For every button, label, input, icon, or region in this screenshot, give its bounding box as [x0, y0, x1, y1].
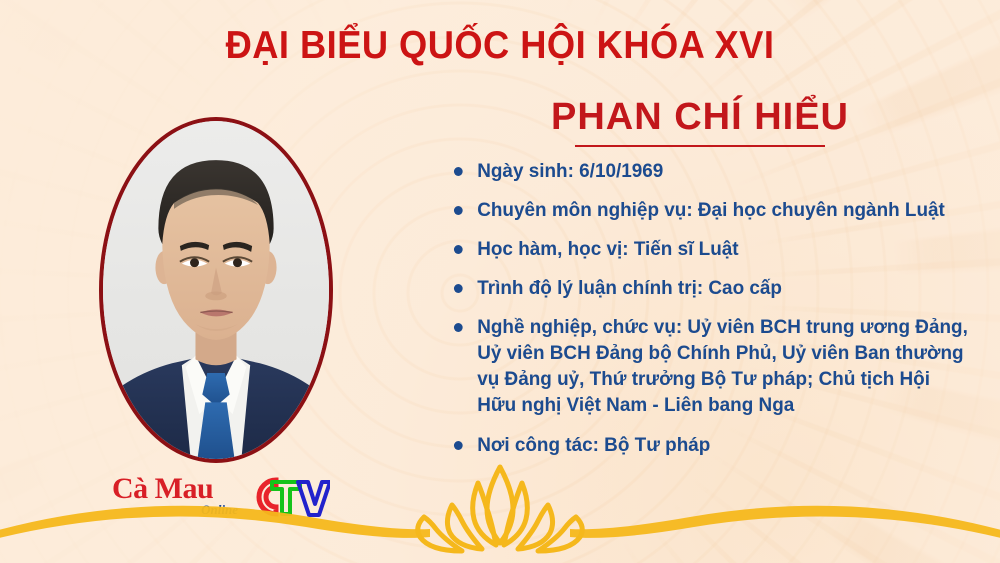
detail-text: Nơi công tác: Bộ Tư pháp	[477, 434, 710, 456]
bullet-dot-icon	[454, 245, 463, 254]
detail-text: Trình độ lý luận chính trị: Cao cấp	[477, 277, 782, 299]
bullet-dot-icon	[454, 323, 463, 332]
deputy-name: PHAN CHÍ HIỂU	[430, 96, 970, 139]
detail-item-hoc-ham-hoc-vi: Học hàm, học vị: Tiến sĩ Luật	[452, 236, 970, 262]
detail-item-nghe-nghiep: Nghề nghiệp, chức vụ: Uỷ viên BCH trung …	[452, 314, 970, 418]
camau-wordmark: Cà Mau	[112, 474, 244, 504]
bullet-dot-icon	[454, 206, 463, 215]
detail-item-ly-luan: Trình độ lý luận chính trị: Cao cấp	[452, 275, 970, 301]
deputy-name-block: PHAN CHÍ HIỂU	[430, 96, 970, 147]
detail-text: Chuyên môn nghiệp vụ: Đại học chuyên ngà…	[477, 199, 945, 221]
camau-online-logo[interactable]: Cà Mau Online	[112, 474, 244, 524]
portrait-photo	[99, 117, 333, 463]
detail-text: Ngày sinh: 6/10/1969	[477, 160, 663, 182]
portrait-illustration	[103, 121, 329, 459]
page-title: ĐẠI BIỂU QUỐC HỘI KHÓA XVI	[35, 24, 965, 68]
detail-item-noi-cong-tac: Nơi công tác: Bộ Tư pháp	[452, 432, 970, 458]
detail-text: Nghề nghiệp, chức vụ: Uỷ viên BCH trung …	[477, 316, 968, 416]
details-list: Ngày sinh: 6/10/1969 Chuyên môn nghiệp v…	[452, 158, 986, 458]
detail-item-ngay-sinh: Ngày sinh: 6/10/1969	[452, 158, 970, 184]
bullet-dot-icon	[454, 167, 463, 176]
detail-text: Học hàm, học vị: Tiến sĩ Luật	[477, 238, 738, 260]
ctv-logo[interactable]	[246, 474, 330, 525]
camau-online-subtitle: Online	[201, 502, 238, 518]
detail-item-chuyen-mon: Chuyên môn nghiệp vụ: Đại học chuyên ngà…	[452, 197, 970, 223]
logo-group: Cà Mau Online	[112, 474, 330, 525]
infographic-poster: ĐẠI BIỂU QUỐC HỘI KHÓA XVI PHAN CHÍ HIỂU	[0, 0, 1000, 563]
bullet-dot-icon	[454, 441, 463, 450]
ctv-logo-icon	[246, 474, 330, 520]
name-underline	[575, 145, 825, 147]
bullet-dot-icon	[454, 284, 463, 293]
